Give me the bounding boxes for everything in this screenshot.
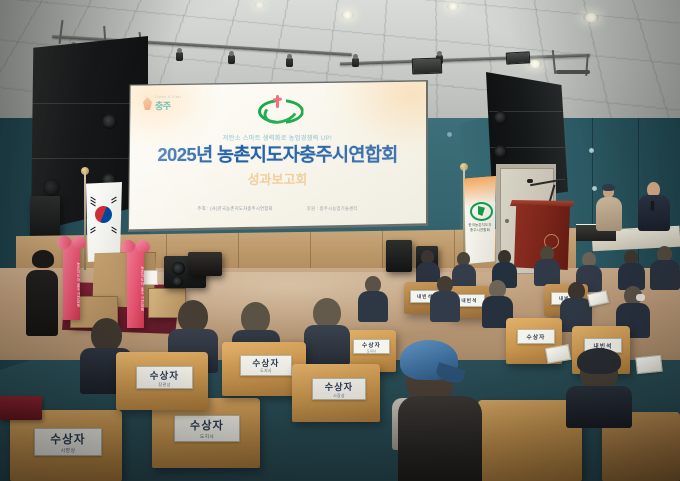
audience-person-front	[566, 352, 632, 424]
projection-screen: Clean & Vital 충주 저탄소 스마트 생력화로 농업경쟁력 UP! …	[129, 81, 426, 230]
screen-title: 2025년 농촌지도자충주시연합회	[129, 145, 426, 166]
audience-person	[560, 282, 592, 330]
ceremonial-sash-left: 농촌지도자 충주시연합회	[63, 240, 80, 320]
award-recipient-chair[interactable]: 수상자 시장상	[10, 410, 122, 481]
face-mask-icon	[636, 294, 645, 301]
standing-woman-in-black	[24, 252, 60, 336]
award-recipient-chair[interactable]: 수상자 장관상	[116, 352, 208, 410]
chair-sign-sub: 도지사	[200, 433, 214, 440]
seated-host-person	[638, 182, 670, 232]
person-body	[638, 195, 670, 231]
audience-person-front	[398, 396, 482, 481]
chair-sign-sub: 도지사	[367, 349, 376, 353]
audience-person	[304, 298, 350, 362]
pa-stack-speaker	[386, 240, 412, 272]
sash-bow-icon	[121, 238, 150, 254]
chair-seat-cushion	[0, 396, 42, 420]
chair-sign-sub: 장관상	[158, 382, 170, 388]
ceiling-downlight	[254, 2, 265, 8]
chair-name-sign: 수상자 시장상	[312, 378, 366, 400]
chair-sign-main: 수상자	[150, 368, 179, 382]
screen-credit-sponsor: 후원 : 충주시농업기술센터	[307, 206, 358, 212]
monitor-cone-icon	[172, 276, 183, 287]
microphone-icon	[527, 179, 533, 183]
chair-sign-main: 수상자	[50, 431, 85, 447]
speaker-yoke	[556, 70, 590, 74]
person-body	[26, 270, 58, 336]
chair-sign-main: 수상자	[526, 333, 545, 341]
audience-person	[358, 276, 388, 320]
chair-sign-sub: 시장상	[333, 393, 345, 399]
sash-bow-icon	[57, 234, 86, 250]
track-lamp-icon	[228, 55, 235, 64]
wall-sensor-dot	[589, 148, 594, 153]
chair-name-sign: 수상자 도지사	[174, 415, 240, 442]
track-lamp-icon	[176, 52, 183, 61]
chungju-logo-name: 충주	[155, 99, 181, 112]
chair-sign-sub: 도지사	[260, 369, 271, 374]
standing-staff-person	[596, 186, 622, 234]
chair-sign-main: 수상자	[362, 341, 381, 349]
handheld-microphone	[651, 201, 654, 210]
screen-tagline: 저탄소 스마트 생력화로 농업경쟁력 UP!	[129, 133, 426, 142]
audience-person	[618, 250, 645, 288]
chungju-flame-icon	[143, 97, 152, 110]
chair-sign-main: 수상자	[325, 380, 353, 393]
ceiling-downlight	[447, 3, 459, 10]
person-cap-icon	[577, 348, 621, 374]
korean-agriculture-emblem-icon	[258, 95, 298, 121]
sash-text: 농촌지도자 충주시연합회	[63, 262, 80, 308]
monitor-cone-icon	[172, 262, 185, 275]
chair-name-sign: 수상자 시장상	[34, 428, 102, 456]
screen-subtitle: 성과보고회	[129, 169, 426, 188]
ceremonial-sash-right: 농촌지도자 충주시연합회	[127, 244, 144, 328]
sash-text: 농촌지도자 충주시연합회	[127, 266, 144, 312]
ceiling-downlight	[583, 13, 599, 22]
door-knob-icon[interactable]	[505, 219, 509, 223]
taeguk-icon	[92, 203, 115, 226]
chair-sign-main: 수상자	[252, 357, 279, 369]
track-lamp-icon	[286, 58, 293, 67]
program-booklet	[635, 355, 663, 375]
chair-name-sign: 수상자 도지사	[353, 339, 390, 354]
ceiling-projector-box	[412, 57, 443, 74]
auditorium-ceremony-photo: Clean & Vital 충주 저탄소 스마트 생력화로 농업경쟁력 UP! …	[0, 0, 680, 481]
org-flag-text: 한국농촌지도자충주시연합회	[467, 223, 493, 232]
chair-name-sign: 수상자 도지사	[240, 355, 292, 376]
screen-credit-host: 주최 : (사)한국농촌지도자충주시연합회	[197, 206, 272, 212]
chair-name-sign: 수상자	[517, 329, 555, 344]
korean-national-flag	[86, 182, 122, 262]
audience-person	[650, 246, 680, 288]
chair-sign-main: 내빈석	[461, 298, 477, 304]
chair-sign-sub: 시장상	[61, 447, 76, 454]
track-lamp-icon	[352, 58, 359, 67]
wall-sensor-dot	[447, 132, 452, 137]
chungju-city-logo: Clean & Vital 충주	[143, 95, 181, 112]
chair-name-sign: 수상자 장관상	[136, 366, 193, 389]
amplifier-rack	[188, 252, 222, 276]
chair-sign-main: 수상자	[190, 417, 224, 433]
ceiling-speaker-box	[506, 51, 531, 64]
audience-person	[430, 276, 460, 320]
org-flag-emblem-icon	[470, 202, 493, 221]
screen-credits: 주최 : (사)한국농촌지도자충주시연합회 후원 : 충주시농업기술센터	[129, 206, 426, 212]
person-cap-icon	[602, 184, 615, 191]
award-recipient-chair[interactable]: 수상자 시장상	[292, 364, 380, 422]
audience-person	[534, 246, 560, 284]
korean-flag-pole	[84, 172, 86, 270]
hair	[32, 250, 54, 268]
person-body	[596, 197, 622, 231]
ceiling-downlight	[341, 11, 354, 19]
